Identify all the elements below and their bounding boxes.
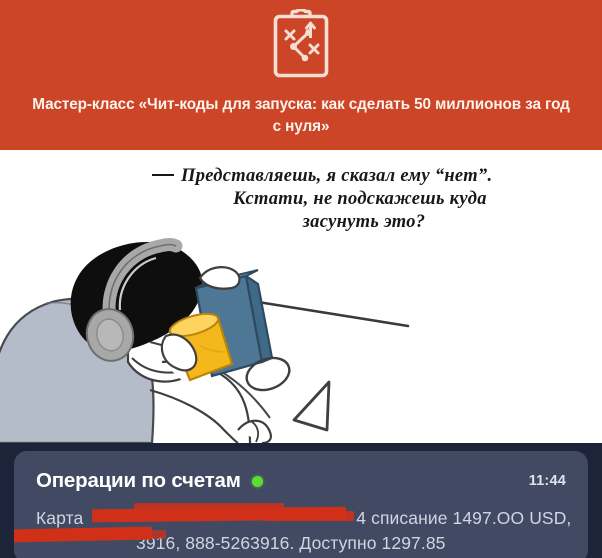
em-dash-icon (152, 174, 174, 177)
comic-illustration: Представляешь, я сказал ему “нет”. Кстат… (0, 150, 602, 443)
speech-line-2: Кстати, не подскажешь куда (152, 188, 592, 211)
speech-line-1: Представляешь, я сказал ему “нет”. (152, 165, 592, 188)
notification-area: Операции по счетам 11:44 Карта 4 списани… (0, 443, 602, 558)
notification-line-1: Карта 4 списание 1497.ОО USD, (36, 506, 566, 531)
speech-line-3: засунуть это? (152, 211, 592, 234)
notification-title: Операции по счетам (36, 469, 241, 493)
notification-line-2: 3916, 888-5263916. Доступно 1297.85 (36, 531, 566, 556)
redacted-card-number (88, 506, 356, 531)
notification-card[interactable]: Операции по счетам 11:44 Карта 4 списани… (14, 451, 588, 558)
notification-body: Карта 4 списание 1497.ОО USD, 3916, 888-… (36, 506, 566, 556)
redacted-account-number (36, 531, 136, 556)
header-banner: Мастер-класс «Чит-коды для запуска: как … (0, 0, 602, 150)
speech-text: Представляешь, я сказал ему “нет”. Кстат… (152, 165, 592, 234)
banner-title: Мастер-класс «Чит-коды для запуска: как … (31, 94, 571, 138)
clipboard-strategy-icon (270, 9, 332, 81)
notification-header: Операции по счетам 11:44 (36, 467, 566, 495)
screenshot-root: Мастер-класс «Чит-коды для запуска: как … (0, 0, 602, 558)
status-dot-icon (252, 476, 263, 487)
notification-time: 11:44 (529, 473, 566, 489)
